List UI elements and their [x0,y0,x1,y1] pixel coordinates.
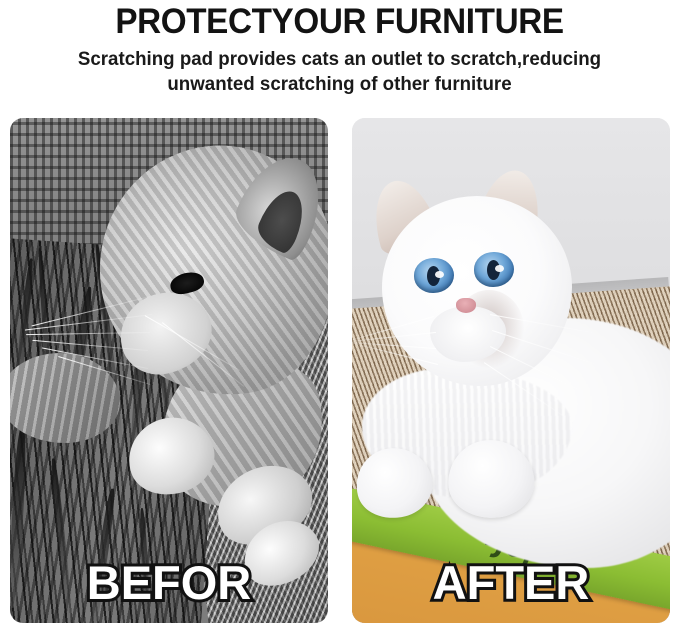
after-panel: -Jopoy- -Jopoy- [352,118,670,623]
before-caption: BEFOR [10,559,328,606]
subtitle-line-2: unwanted scratching of other furniture [14,72,666,97]
after-image: -Jopoy- -Jopoy- [352,118,670,623]
comparison-panels: BEFOR -Jopoy- -Jopoy- [0,118,679,623]
before-panel: BEFOR [10,118,328,623]
header-block: PROTECTYOUR FURNITURE Scratching pad pro… [0,0,679,112]
white-cat-nose [456,298,476,313]
page-subtitle: Scratching pad provides cats an outlet t… [14,43,666,97]
after-caption: AFTER [352,559,670,606]
subtitle-line-1: Scratching pad provides cats an outlet t… [14,47,666,72]
white-cat-eye-right [474,252,514,287]
white-cat-eye-left [414,258,454,293]
before-image [10,118,328,623]
page-title: PROTECTYOUR FURNITURE [17,0,662,43]
